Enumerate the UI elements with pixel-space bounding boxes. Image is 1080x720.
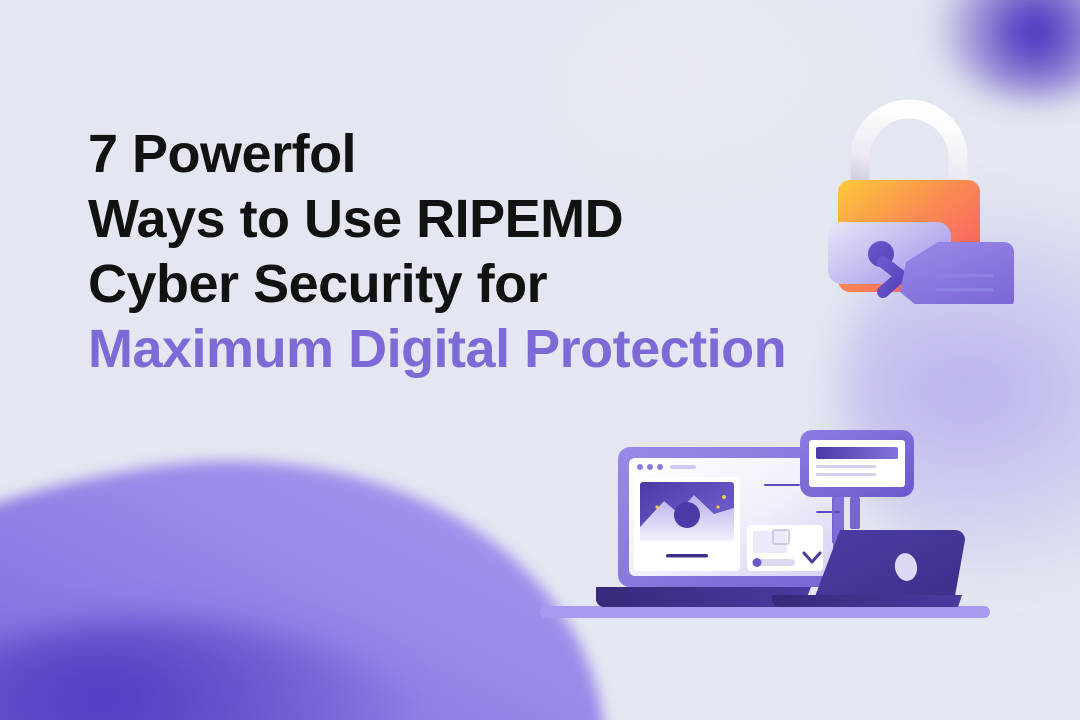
window-address-bar: [670, 465, 696, 469]
dark-purple-spot-bottom-left: [0, 620, 440, 720]
right-card-line-2: [936, 288, 994, 292]
headline-line-2: Ways to Use RIPEMD: [88, 187, 888, 252]
window-dot-1: [637, 464, 643, 470]
closed-laptop-base: [772, 595, 962, 607]
connector-stem: [832, 497, 834, 543]
floating-card-line-1: [816, 465, 876, 468]
sun-circle: [674, 502, 700, 528]
window-dot-3: [657, 464, 663, 470]
connector-line-2: [816, 511, 840, 513]
panel-thumb: [753, 531, 787, 553]
connector-line-1: [764, 484, 800, 486]
content-card-line: [666, 554, 708, 558]
headline-line-4: Maximum Digital Protection: [88, 317, 888, 382]
floating-card-bar: [816, 447, 898, 459]
star-2: [716, 505, 719, 508]
headline-line-3: Cyber Security for: [88, 252, 888, 317]
window-dot-2: [647, 464, 653, 470]
padlock-icon: [828, 96, 1024, 304]
dark-purple-spot-top-right: [930, 0, 1080, 100]
star-3: [655, 505, 658, 508]
padlock-shackle: [860, 109, 958, 188]
floating-card-stem: [850, 497, 860, 529]
poster-canvas: 7 Powerfol Ways to Use RIPEMD Cyber Secu…: [0, 0, 1080, 720]
ground-bar: [540, 606, 990, 618]
panel-toggle-knob: [753, 558, 762, 567]
headline-line-1: 7 Powerfol: [88, 122, 888, 187]
right-card-line-1: [936, 274, 994, 278]
star-1: [722, 495, 726, 499]
floating-card-line-2: [816, 473, 876, 476]
devices-illustration: [528, 415, 1020, 650]
headline-block: 7 Powerfol Ways to Use RIPEMD Cyber Secu…: [88, 122, 888, 382]
